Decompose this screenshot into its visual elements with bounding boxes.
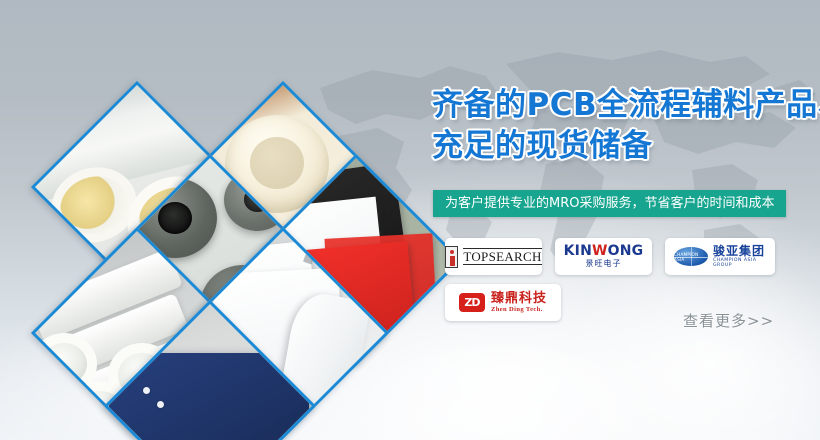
kinwong-subtext: 景旺电子 [586,259,622,269]
product-collage: JIE [0,0,430,440]
champion-asia-wordmark-cn: 骏亚集团 [713,245,766,257]
kinwong-wordmark-suffix: ONG [608,243,644,259]
kinwong-wordmark-accent: W [592,243,608,259]
topsearch-wordmark: TOPSEARCH [463,248,541,265]
kinwong-wordmark: KINWONG [564,244,644,259]
globe-icon: CHAMPION ASIA [674,247,708,266]
promo-banner: JIE 齐备的PCB全流程辅料产品、 充足的现货储备 为客户提供专业的MRO采购… [0,0,820,440]
partner-logo-zhen-ding[interactable]: ZD 臻鼎科技 Zhen Ding Tech. [445,284,561,321]
globe-icon-label: CHAMPION ASIA [674,252,708,262]
headline-line-2: 充足的现货储备 [432,126,820,167]
banner-content: 齐备的PCB全流程辅料产品、 充足的现货储备 为客户提供专业的MRO采购服务，节… [425,0,820,440]
partner-logo-row: TOPSEARCH KINWONG 景旺电子 CHAMPION ASIA 骏亚集… [445,238,815,275]
zhen-ding-wordmark-en: Zhen Ding Tech. [491,307,547,314]
zhen-ding-mark-icon: ZD [459,293,485,312]
partner-logo-champion-asia[interactable]: CHAMPION ASIA 骏亚集团 CHAMPION ASIA GROUP [665,238,775,275]
partner-logo-kinwong[interactable]: KINWONG 景旺电子 [555,238,652,275]
zhen-ding-wordmark-cn: 臻鼎科技 [491,292,547,305]
topsearch-mark-icon [445,246,458,268]
headline: 齐备的PCB全流程辅料产品、 充足的现货储备 [432,85,820,167]
zhen-ding-wordmark: 臻鼎科技 Zhen Ding Tech. [491,292,547,314]
kinwong-wordmark-prefix: KIN [564,243,592,259]
champion-asia-wordmark: 骏亚集团 CHAMPION ASIA GROUP [713,245,766,268]
champion-asia-wordmark-en: CHAMPION ASIA GROUP [713,259,766,268]
view-more-link[interactable]: 查看更多>> [683,310,774,331]
headline-line-1: 齐备的PCB全流程辅料产品、 [432,85,820,126]
subtitle-bar: 为客户提供专业的MRO采购服务，节省客户的时间和成本 [433,190,786,217]
partner-logo-topsearch[interactable]: TOPSEARCH [445,238,542,275]
